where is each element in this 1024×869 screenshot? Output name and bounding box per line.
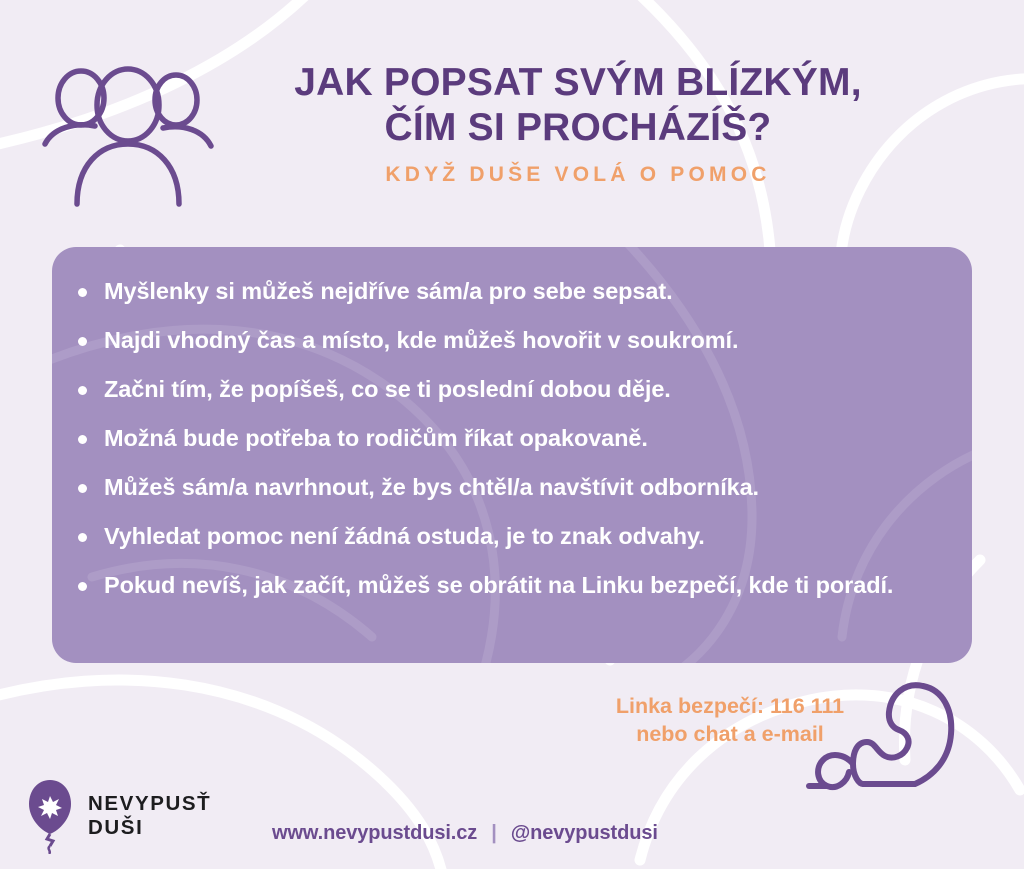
tip-text: Najdi vhodný čas a místo, kde můžeš hovo… xyxy=(104,325,738,356)
bullet-dot-icon xyxy=(78,582,87,591)
page-title: JAK POPSAT SVÝM BLÍZKÝM, ČÍM SI PROCHÁZÍ… xyxy=(228,60,928,150)
brand-wordmark: NEVYPUSŤ DUŠI xyxy=(88,792,211,840)
brand-logo: NEVYPUSŤ DUŠI xyxy=(26,778,211,854)
tips-card: Myšlenky si můžeš nejdříve sám/a pro seb… xyxy=(52,247,972,663)
people-group-icon xyxy=(33,62,223,212)
ear-listening-icon xyxy=(805,672,965,812)
balloon-logo-icon xyxy=(26,778,76,854)
list-item: Vyhledat pomoc není žádná ostuda, je to … xyxy=(78,521,942,552)
infographic-poster: JAK POPSAT SVÝM BLÍZKÝM, ČÍM SI PROCHÁZÍ… xyxy=(0,0,1024,869)
footer-divider: | xyxy=(491,822,497,845)
brand-name-line-1: NEVYPUSŤ xyxy=(88,792,211,816)
list-item: Možná bude potřeba to rodičům říkat opak… xyxy=(78,423,942,454)
tip-text: Můžeš sám/a navrhnout, že bys chtěl/a na… xyxy=(104,472,759,503)
bullet-dot-icon xyxy=(78,386,87,395)
tip-text: Myšlenky si můžeš nejdříve sám/a pro seb… xyxy=(104,276,673,307)
bullet-dot-icon xyxy=(78,533,87,542)
footer-links: www.nevypustdusi.cz | @nevypustdusi xyxy=(272,822,658,845)
bullet-dot-icon xyxy=(78,337,87,346)
list-item: Můžeš sám/a navrhnout, že bys chtěl/a na… xyxy=(78,472,942,503)
list-item: Najdi vhodný čas a místo, kde můžeš hovo… xyxy=(78,325,942,356)
tip-text: Vyhledat pomoc není žádná ostuda, je to … xyxy=(104,521,705,552)
title-line-2: ČÍM SI PROCHÁZÍŠ? xyxy=(228,105,928,150)
page-subtitle: KDYŽ DUŠE VOLÁ O POMOC xyxy=(228,163,928,187)
heading-block: JAK POPSAT SVÝM BLÍZKÝM, ČÍM SI PROCHÁZÍ… xyxy=(228,60,928,187)
bullet-dot-icon xyxy=(78,435,87,444)
list-item: Začni tím, že popíšeš, co se ti poslední… xyxy=(78,374,942,405)
website-link[interactable]: www.nevypustdusi.cz xyxy=(272,822,477,845)
list-item: Myšlenky si můžeš nejdříve sám/a pro seb… xyxy=(78,276,942,307)
tip-text: Možná bude potřeba to rodičům říkat opak… xyxy=(104,423,648,454)
tip-text: Pokud nevíš, jak začít, můžeš se obrátit… xyxy=(104,570,893,601)
title-line-1: JAK POPSAT SVÝM BLÍZKÝM, xyxy=(228,60,928,105)
brand-name-line-2: DUŠI xyxy=(88,816,211,840)
social-handle[interactable]: @nevypustdusi xyxy=(511,822,658,845)
bullet-dot-icon xyxy=(78,288,87,297)
bullet-dot-icon xyxy=(78,484,87,493)
list-item: Pokud nevíš, jak začít, můžeš se obrátit… xyxy=(78,570,942,601)
tip-text: Začni tím, že popíšeš, co se ti poslední… xyxy=(104,374,671,405)
tips-list: Myšlenky si můžeš nejdříve sám/a pro seb… xyxy=(52,247,972,601)
